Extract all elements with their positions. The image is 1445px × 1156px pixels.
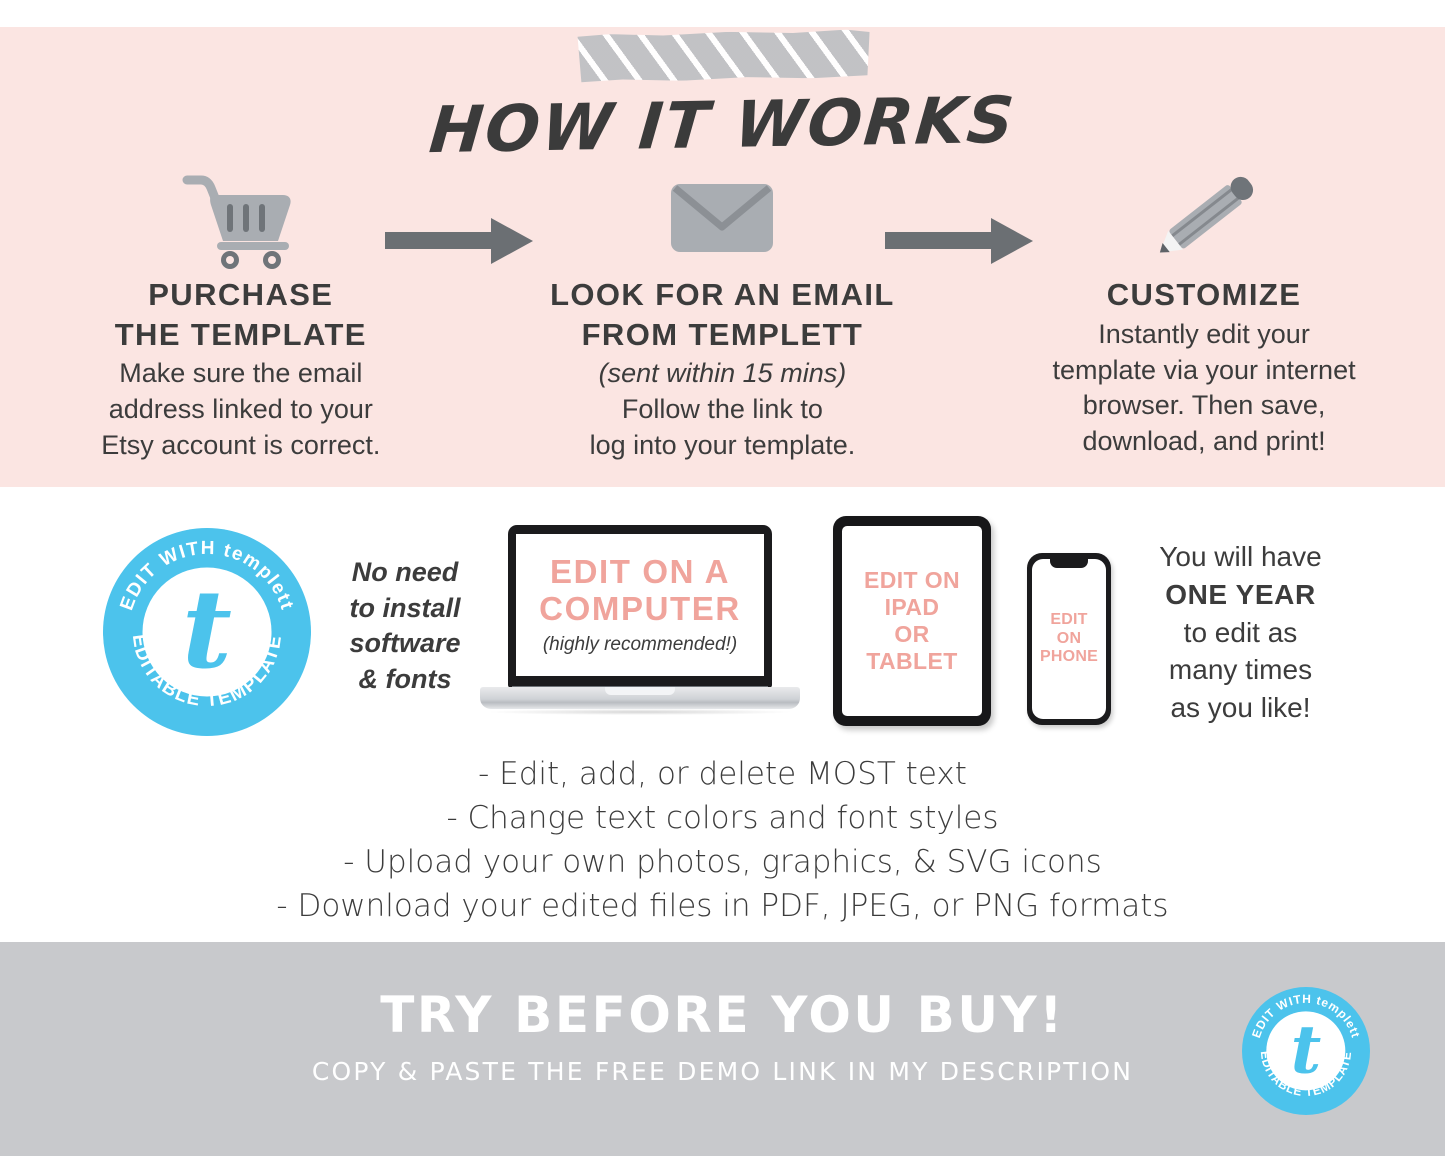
page-title: HOW IT WORKS (0, 76, 1445, 175)
no-install-line4: & fonts (330, 662, 480, 698)
step-3-body-line4: download, and print! (963, 424, 1445, 460)
badge-small-top-arc-text: EDIT WITH templett (1249, 992, 1363, 1040)
phone-screen-text: EDIT ON PHONE (1040, 611, 1098, 666)
badge-arc-text-small: EDIT WITH templett EDITABLE TEMPLATE (1242, 987, 1370, 1115)
infographic-page: HOW IT WORKS (0, 0, 1445, 1156)
no-install-line1: No need (330, 555, 480, 591)
laptop-mockup: EDIT ON A COMPUTER (highly recommended!) (480, 525, 800, 725)
step-3-title-line1: CUSTOMIZE (963, 275, 1445, 315)
one-year-line3: to edit as (1128, 614, 1353, 652)
laptop-screen: EDIT ON A COMPUTER (highly recommended!) (516, 534, 764, 676)
arrow-right-icon-2 (885, 216, 1033, 242)
step-3-icon-wrap (963, 165, 1445, 275)
laptop-screen-text: EDIT ON A COMPUTER (highly recommended!) (516, 554, 764, 656)
no-install-line2: to install (330, 591, 480, 627)
step-customize: CUSTOMIZE Instantly edit your template v… (963, 165, 1445, 460)
step-1-title-line2: THE TEMPLATE (0, 315, 482, 355)
step-3-body: Instantly edit your template via your in… (963, 317, 1445, 461)
bullet-item-3: - Upload your own photos, graphics, & SV… (0, 840, 1445, 884)
tablet-text-line1: EDIT ON (864, 567, 960, 594)
tablet-mockup: EDIT ON IPAD OR TABLET (833, 516, 991, 726)
tablet-screen-text: EDIT ON IPAD OR TABLET (864, 567, 960, 676)
step-1-body-line1: Make sure the email (0, 356, 482, 392)
step-1-title: PURCHASE THE TEMPLATE (0, 275, 482, 354)
one-year-line5: as you like! (1128, 689, 1353, 727)
phone-mockup: EDIT ON PHONE (1027, 553, 1111, 725)
badge-small-bottom-arc-text: EDITABLE TEMPLATE (1258, 1050, 1354, 1099)
envelope-icon (669, 180, 775, 261)
phone-text-line2: ON (1040, 630, 1098, 648)
laptop-text-line1: EDIT ON A (516, 554, 764, 591)
steps-row: PURCHASE THE TEMPLATE Make sure the emai… (0, 165, 1445, 485)
arrow-right-icon-1 (385, 216, 533, 242)
step-2-body: (sent within 15 mins) Follow the link to… (482, 356, 964, 464)
banner-subtitle: COPY & PASTE THE FREE DEMO LINK IN MY DE… (0, 1057, 1445, 1086)
step-2-title: LOOK FOR AN EMAIL FROM TEMPLETT (482, 275, 964, 354)
laptop-shadow (490, 709, 790, 715)
badge-bottom-arc-text: EDITABLE TEMPLATE (128, 633, 286, 711)
one-year-note: You will have ONE YEAR to edit as many t… (1128, 538, 1353, 727)
tablet-body: EDIT ON IPAD OR TABLET (833, 516, 991, 726)
step-3-title: CUSTOMIZE (963, 275, 1445, 315)
tablet-screen: EDIT ON IPAD OR TABLET (842, 526, 982, 716)
badge-top-arc-text: EDIT WITH templett (116, 538, 297, 613)
step-3-body-line1: Instantly edit your (963, 317, 1445, 353)
step-2-body-italic: (sent within 15 mins) (482, 356, 964, 392)
tablet-text-line2: IPAD (864, 594, 960, 621)
phone-screen: EDIT ON PHONE (1032, 559, 1106, 719)
phone-text-line3: PHONE (1040, 648, 1098, 666)
phone-notch (1050, 559, 1088, 568)
step-look-for-email: LOOK FOR AN EMAIL FROM TEMPLETT (sent wi… (482, 165, 964, 464)
washi-tape-decoration (575, 29, 871, 83)
how-it-works-section: HOW IT WORKS (0, 27, 1445, 487)
laptop-text-note: (highly recommended!) (516, 634, 764, 656)
banner-title: TRY BEFORE YOU BUY! (0, 986, 1445, 1044)
bullet-item-2: - Change text colors and font styles (0, 796, 1445, 840)
bullet-item-4: - Download your edited files in PDF, JPE… (0, 884, 1445, 928)
no-install-line3: software (330, 626, 480, 662)
step-2-body-line1: Follow the link to (482, 392, 964, 428)
laptop-text-line2: COMPUTER (516, 591, 764, 628)
laptop-trackpad-notch (605, 687, 675, 695)
step-3-body-line3: browser. Then save, (963, 388, 1445, 424)
tablet-text-line3: OR (864, 621, 960, 648)
step-2-title-line1: LOOK FOR AN EMAIL (482, 275, 964, 315)
one-year-strong: ONE YEAR (1128, 576, 1353, 614)
step-purchase: PURCHASE THE TEMPLATE Make sure the emai… (0, 165, 482, 464)
bullet-item-1: - Edit, add, or delete MOST text (0, 752, 1445, 796)
templett-badge-large: t EDIT WITH templett EDITABLE TEMPLATE (103, 528, 311, 736)
one-year-line4: many times (1128, 651, 1353, 689)
step-2-title-line2: FROM TEMPLETT (482, 315, 964, 355)
step-1-body-line2: address linked to your (0, 392, 482, 428)
no-install-note: No need to install software & fonts (330, 555, 480, 698)
feature-bullet-list: - Edit, add, or delete MOST text - Chang… (0, 752, 1445, 928)
pencil-icon (1144, 170, 1264, 271)
try-before-you-buy-banner: TRY BEFORE YOU BUY! COPY & PASTE THE FRE… (0, 942, 1445, 1156)
step-1-body-line3: Etsy account is correct. (0, 428, 482, 464)
tablet-text-line4: TABLET (864, 648, 960, 675)
step-1-title-line1: PURCHASE (0, 275, 482, 315)
shopping-cart-icon (181, 166, 301, 275)
phone-text-line1: EDIT (1040, 611, 1098, 629)
one-year-line1: You will have (1128, 538, 1353, 576)
step-1-body: Make sure the email address linked to yo… (0, 356, 482, 464)
badge-arc-text: EDIT WITH templett EDITABLE TEMPLATE (103, 528, 311, 736)
phone-body: EDIT ON PHONE (1027, 553, 1111, 725)
laptop-lid: EDIT ON A COMPUTER (highly recommended!) (508, 525, 772, 688)
step-3-body-line2: template via your internet (963, 353, 1445, 389)
templett-badge-small: t EDIT WITH templett EDITABLE TEMPLATE (1242, 987, 1370, 1115)
step-2-body-line2: log into your template. (482, 428, 964, 464)
